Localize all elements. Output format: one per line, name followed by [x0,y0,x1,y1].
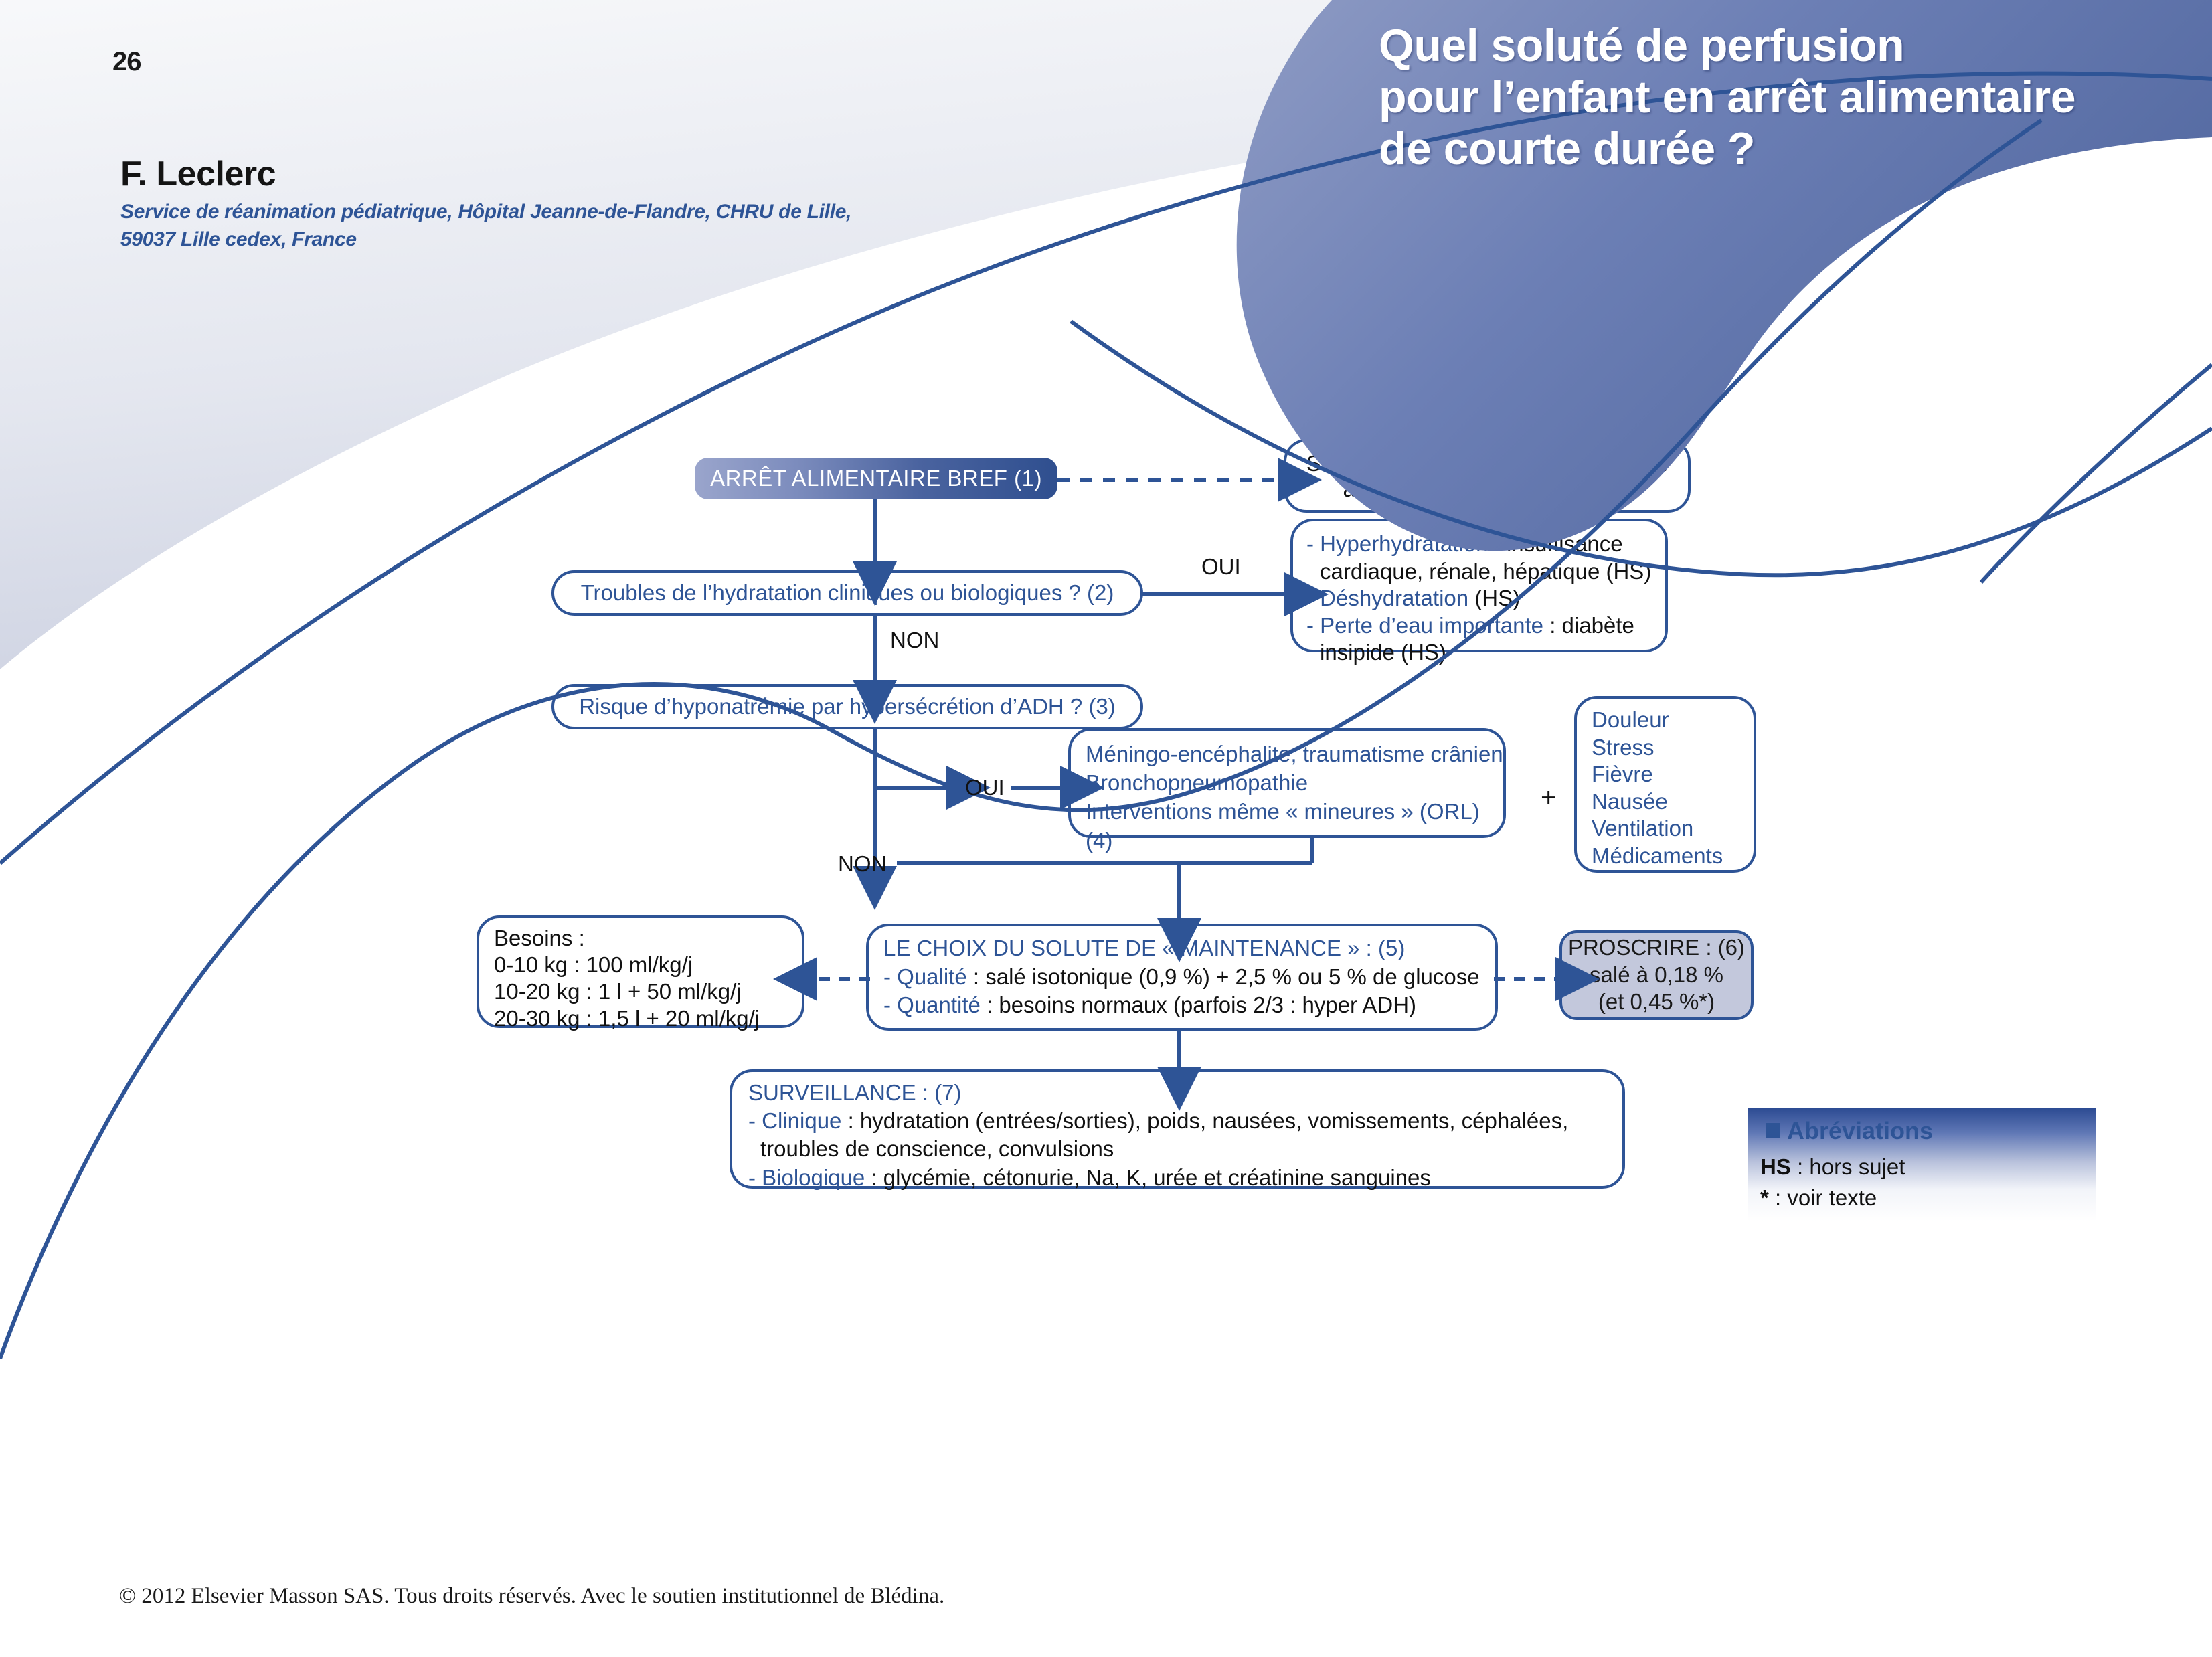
edge-label-non-adh: NON [838,851,887,877]
abbreviation-row-hs: HS : hors sujet [1760,1154,1905,1180]
abbreviations-title: Abréviations [1766,1117,1933,1145]
author-affiliation-line-1: Service de réanimation pédiatrique, Hôpi… [120,198,851,226]
title-line-3: de courte durée ? [1379,123,2128,175]
abbreviation-row-star: * : voir texte [1760,1185,1877,1211]
page-number: 26 [112,47,141,77]
author-block: F. Leclerc Service de réanimation pédiat… [120,154,851,254]
bullet-square-icon [1766,1123,1780,1138]
author-name: F. Leclerc [120,154,851,194]
title-line-2: pour l’enfant en arrêt alimentaire [1379,72,2128,123]
page-title: Quel soluté de perfusion pour l’enfant e… [1379,20,2128,174]
plus-sign: + [1541,783,1556,813]
copyright-footer: © 2012 Elsevier Masson SAS. Tous droits … [119,1584,944,1609]
edge-label-non-hydration: NON [890,628,939,653]
author-affiliation-line-2: 59037 Lille cedex, France [120,226,851,253]
edge-label-oui-adh: OUI [965,775,1005,800]
abbreviations-panel: Abréviations HS : hors sujet * : voir te… [1748,1108,2096,1221]
title-line-1: Quel soluté de perfusion [1379,20,2128,72]
edge-label-oui-hydration: OUI [1201,554,1241,580]
